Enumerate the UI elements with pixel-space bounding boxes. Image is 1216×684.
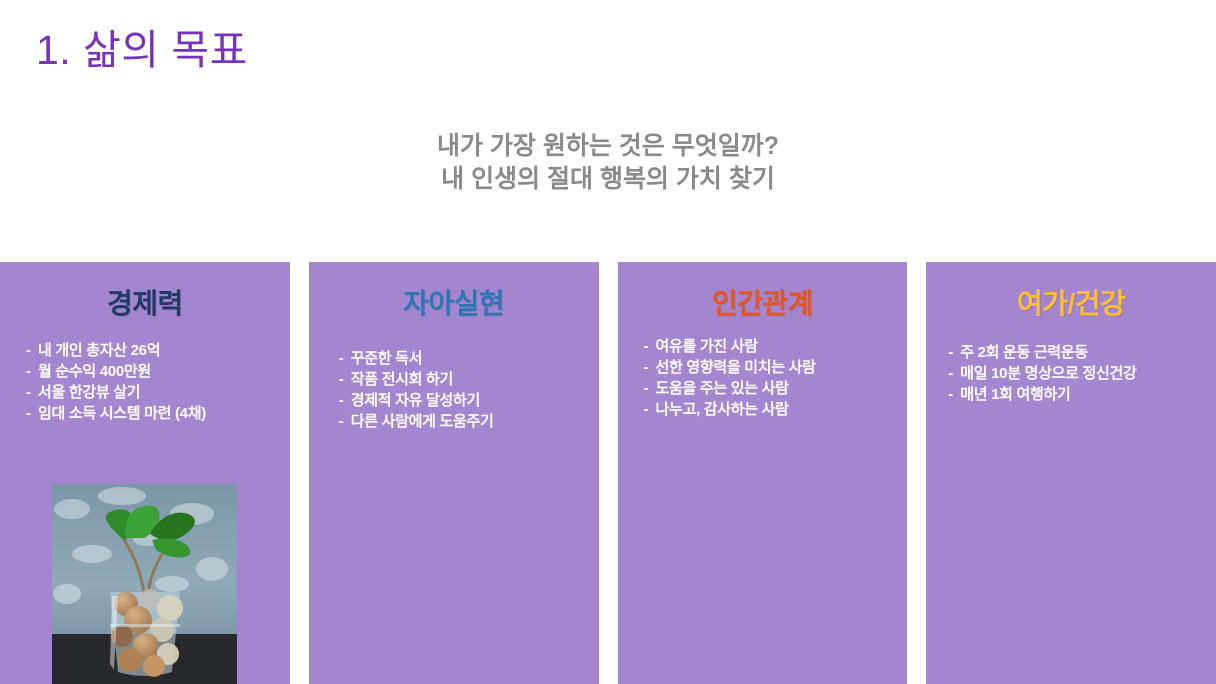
panel-self-realization: 자아실현 -꾸준한 독서 -작품 전시회 하기 -경제적 자유 달성하기 -다른… [309, 262, 599, 684]
list-item: -주 2회 운동 근력운동 [948, 342, 1208, 363]
list-item-label: 도움을 주는 있는 사람 [656, 380, 789, 397]
bullet-dash: - [644, 357, 656, 378]
list-item: -매일 10분 명상으로 정신건강 [948, 363, 1208, 384]
list-item: -선한 영향력을 미치는 사람 [644, 357, 900, 378]
list-item-label: 월 순수익 400만원 [38, 363, 151, 380]
bullet-dash: - [644, 336, 656, 357]
list-item-label: 임대 소득 시스템 마련 (4채) [38, 405, 206, 422]
bullet-dash: - [948, 363, 960, 384]
list-item: -임대 소득 시스템 마련 (4채) [26, 403, 282, 424]
panel-bullets-relationships: -여유를 가진 사람 -선한 영향력을 미치는 사람 -도움을 주는 있는 사람… [618, 336, 908, 420]
bullet-dash: - [339, 390, 351, 411]
panel-leisure-health: 여가/건강 -주 2회 운동 근력운동 -매일 10분 명상으로 정신건강 -매… [926, 262, 1216, 684]
list-item-label: 나누고, 감사하는 사람 [656, 401, 789, 418]
list-item: -월 순수익 400만원 [26, 361, 282, 382]
bullet-dash: - [26, 361, 38, 382]
list-item-label: 매년 1회 여행하기 [960, 386, 1070, 403]
list-item: -서울 한강뷰 살기 [26, 382, 282, 403]
list-item: -다른 사람에게 도움주기 [339, 411, 591, 432]
bullet-dash: - [339, 369, 351, 390]
list-item-label: 다른 사람에게 도움주기 [351, 413, 494, 430]
list-item: -나누고, 감사하는 사람 [644, 399, 900, 420]
bullet-dash: - [26, 340, 38, 361]
panel-heading-self-realization: 자아실현 [309, 282, 599, 322]
slide-root: 1. 삶의 목표 내가 가장 원하는 것은 무엇일까? 내 인생의 절대 행복의… [0, 0, 1216, 684]
panel-heading-leisure-health: 여가/건강 [926, 282, 1216, 322]
list-item-label: 매일 10분 명상으로 정신건강 [960, 365, 1136, 382]
list-item: -내 개인 총자산 26억 [26, 340, 282, 361]
bullet-dash: - [948, 384, 960, 405]
list-item-label: 작품 전시회 하기 [351, 371, 453, 388]
bullet-dash: - [339, 348, 351, 369]
panel-bullets-self-realization: -꾸준한 독서 -작품 전시회 하기 -경제적 자유 달성하기 -다른 사람에게… [309, 348, 599, 432]
panel-bullets-leisure-health: -주 2회 운동 근력운동 -매일 10분 명상으로 정신건강 -매년 1회 여… [926, 342, 1216, 405]
bullet-dash: - [26, 403, 38, 424]
panel-heading-economic-power: 경제력 [0, 282, 290, 322]
bullet-dash: - [26, 382, 38, 403]
list-item-label: 주 2회 운동 근력운동 [960, 344, 1088, 361]
list-item-label: 내 개인 총자산 26억 [38, 342, 160, 359]
list-item: -여유를 가진 사람 [644, 336, 900, 357]
panel-economic-power: 경제력 -내 개인 총자산 26억 -월 순수익 400만원 -서울 한강뷰 살… [0, 262, 290, 684]
bullet-dash: - [948, 342, 960, 363]
coins-in-glass-with-sprout-photo [52, 484, 237, 684]
list-item: -매년 1회 여행하기 [948, 384, 1208, 405]
subtitle-line-1: 내가 가장 원하는 것은 무엇일까? [0, 130, 1216, 163]
panel-heading-relationships: 인간관계 [618, 282, 908, 322]
goal-panels: 경제력 -내 개인 총자산 26억 -월 순수익 400만원 -서울 한강뷰 살… [0, 262, 1216, 684]
page-title: 1. 삶의 목표 [36, 16, 248, 76]
bullet-dash: - [644, 378, 656, 399]
subtitle-block: 내가 가장 원하는 것은 무엇일까? 내 인생의 절대 행복의 가치 찾기 [0, 130, 1216, 196]
bullet-dash: - [339, 411, 351, 432]
list-item: -도움을 주는 있는 사람 [644, 378, 900, 399]
list-item-label: 서울 한강뷰 살기 [38, 384, 140, 401]
list-item-label: 선한 영향력을 미치는 사람 [656, 359, 816, 376]
bullet-dash: - [644, 399, 656, 420]
list-item: -작품 전시회 하기 [339, 369, 591, 390]
panel-bullets-economic-power: -내 개인 총자산 26억 -월 순수익 400만원 -서울 한강뷰 살기 -임… [0, 340, 290, 424]
list-item-label: 꾸준한 독서 [351, 350, 422, 367]
list-item-label: 여유를 가진 사람 [656, 338, 758, 355]
list-item: -경제적 자유 달성하기 [339, 390, 591, 411]
list-item-label: 경제적 자유 달성하기 [351, 392, 480, 409]
subtitle-line-2: 내 인생의 절대 행복의 가치 찾기 [0, 163, 1216, 196]
panel-relationships: 인간관계 -여유를 가진 사람 -선한 영향력을 미치는 사람 -도움을 주는 … [618, 262, 908, 684]
list-item: -꾸준한 독서 [339, 348, 591, 369]
